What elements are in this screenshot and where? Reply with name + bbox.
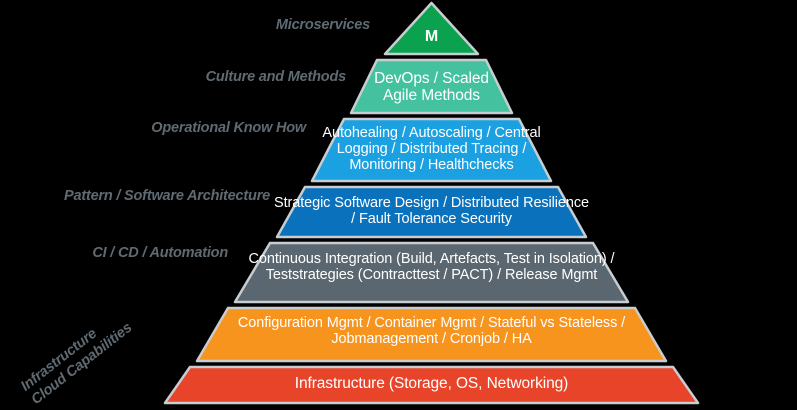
side-label-microservices: Microservices — [130, 17, 370, 33]
level-shape-ci-cd-automation[interactable] — [235, 243, 628, 302]
level-shape-infrastructure-cloud-capabilities[interactable] — [197, 308, 666, 361]
pyramid-diagram: M DevOps / Scaled Agile Methods Autoheal… — [0, 0, 797, 410]
side-label-ci-cd-automation: CI / CD / Automation — [0, 245, 228, 261]
side-label-operational-know-how: Operational Know How — [50, 120, 306, 136]
pyramid-shapes — [0, 0, 797, 410]
side-label-culture-and-methods: Culture and Methods — [90, 69, 346, 85]
level-shape-microservices[interactable] — [385, 3, 478, 54]
level-shape-operational-know-how[interactable] — [312, 119, 551, 181]
level-shape-infrastructure[interactable] — [165, 367, 698, 403]
side-label-pattern-software-architecture: Pattern / Software Architecture — [4, 188, 270, 204]
level-shape-pattern-software-architecture[interactable] — [277, 187, 586, 237]
level-shape-culture-and-methods[interactable] — [351, 60, 512, 113]
